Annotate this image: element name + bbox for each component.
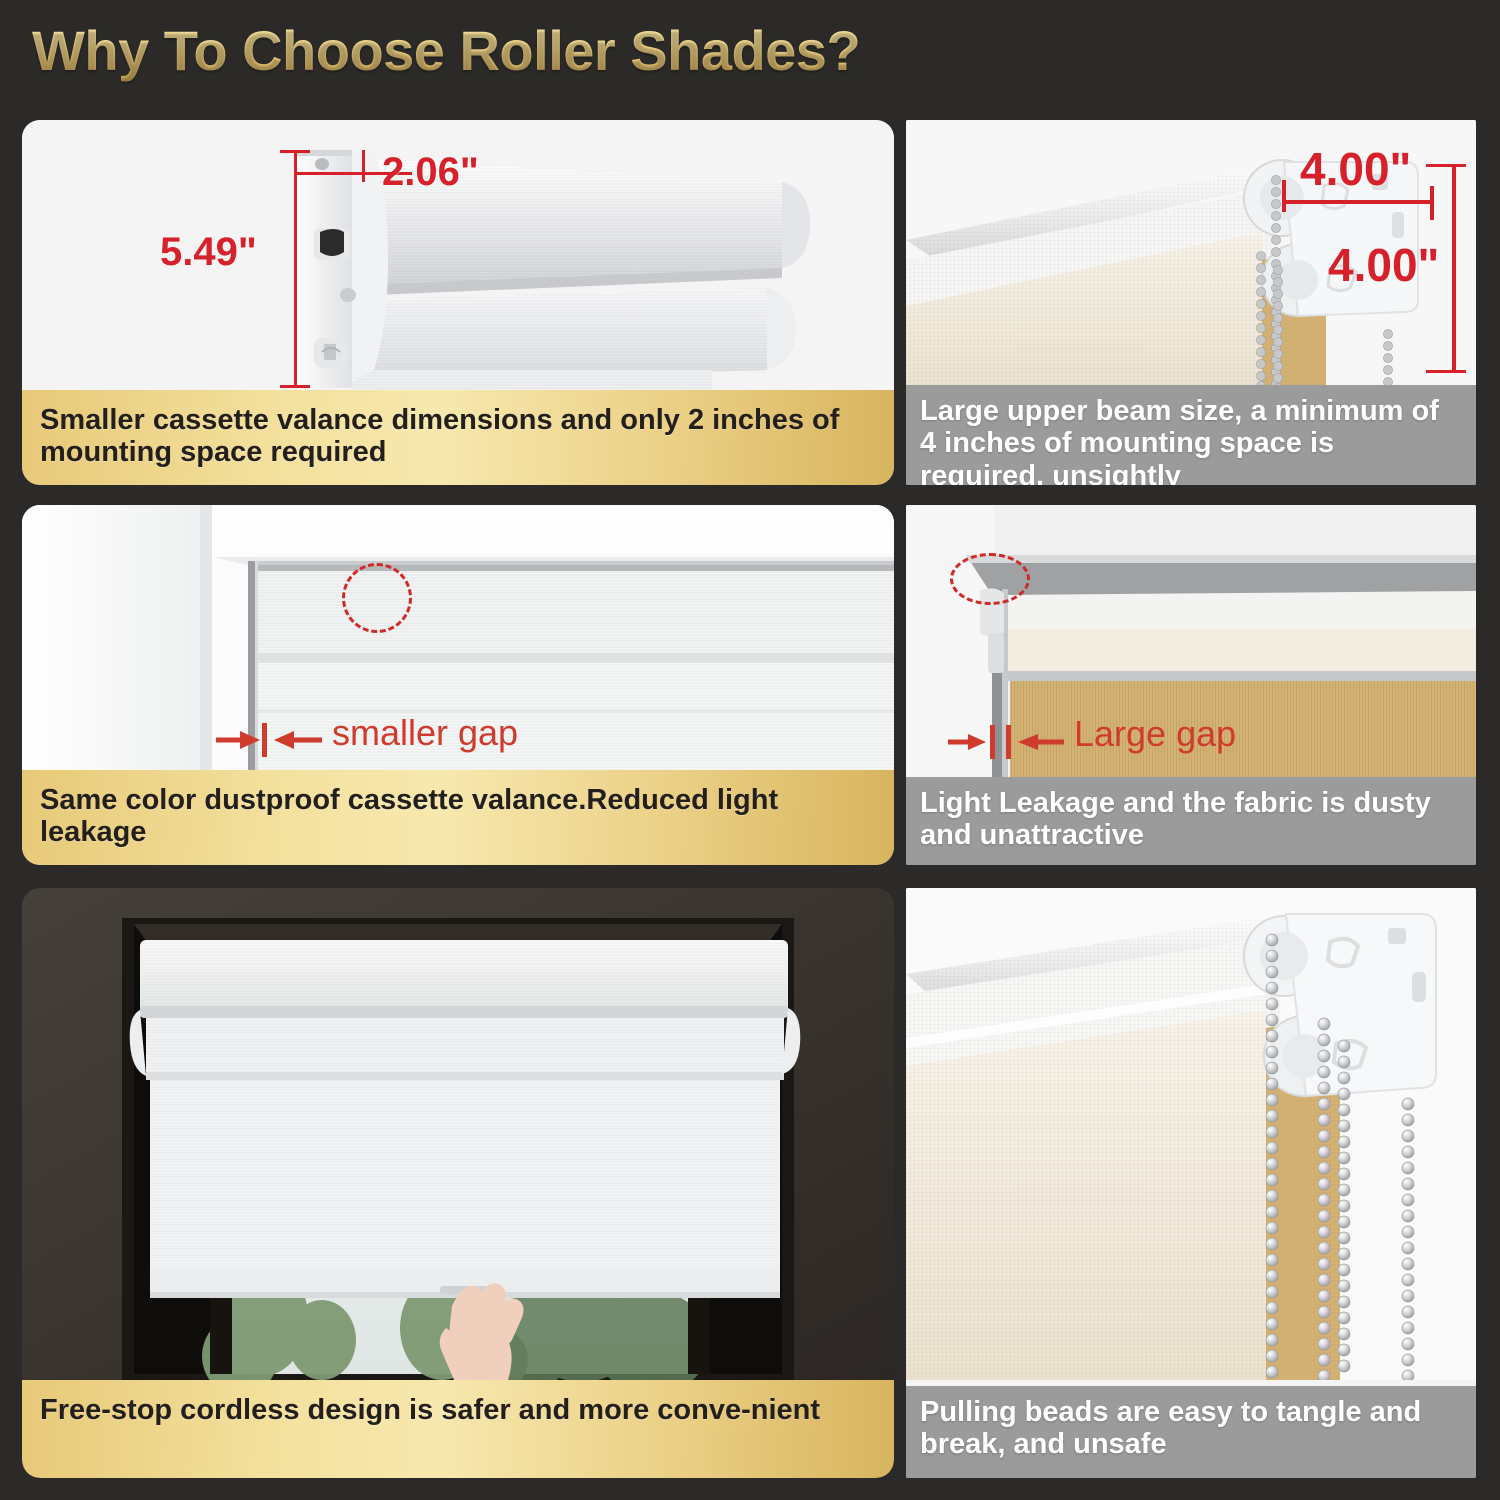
caption-text: Smaller cassette valance dimensions and … [40, 404, 876, 469]
cassette-photo: 2.06" 5.49" [22, 120, 894, 390]
height-dimension-tick-top [280, 150, 310, 153]
large-gap-label: Large gap [1074, 713, 1236, 755]
detail-highlight-circle [950, 553, 1030, 605]
caption-light-leakage: Light Leakage and the fabric is dusty an… [906, 777, 1476, 865]
caption-cassette-dimensions: Smaller cassette valance dimensions and … [22, 390, 894, 485]
beam-height-label: 4.00" [1328, 238, 1439, 292]
large-gap-photo: Large gap [906, 505, 1476, 777]
smaller-gap-label: smaller gap [332, 712, 518, 754]
infographic-page: Why To Choose Roller Shades? [0, 0, 1500, 1500]
height-dimension-line [294, 150, 297, 388]
panel-cassette-dimensions: 2.06" 5.49" Smaller cassette valance dim… [22, 120, 894, 485]
window-scene-illustration [22, 888, 894, 1380]
cordless-window-photo [22, 888, 894, 1380]
height-dimension-tick-bottom [280, 385, 310, 388]
caption-text: Pulling beads are easy to tangle and bre… [920, 1396, 1462, 1461]
caption-large-upper-beam: Large upper beam size, a minimum of 4 in… [906, 385, 1476, 485]
beam-width-dimension-line [1284, 200, 1434, 204]
upper-beam-photo: 4.00" 4.00" [906, 120, 1476, 388]
caption-text: Same color dustproof cassette valance.Re… [40, 784, 876, 849]
beaded-roller-illustration [906, 888, 1476, 1380]
panel-large-upper-beam: 4.00" 4.00" Large upper beam size, a min… [906, 120, 1476, 485]
detail-highlight-circle [342, 563, 412, 633]
pulling-beads-photo [906, 888, 1476, 1380]
beam-width-tick-right [1430, 186, 1434, 220]
panel-light-leakage: Large gap Light Leakage and the fabric i… [906, 505, 1476, 865]
page-title: Why To Choose Roller Shades? [32, 18, 860, 83]
caption-text: Free-stop cordless design is safer and m… [40, 1394, 876, 1426]
panel-dustproof-cassette-valance: smaller gap Same color dustproof cassett… [22, 505, 894, 865]
caption-cordless-design: Free-stop cordless design is safer and m… [22, 1380, 894, 1478]
height-dimension-label: 5.49" [160, 230, 257, 275]
panel-cordless-design: Free-stop cordless design is safer and m… [22, 888, 894, 1478]
panel-pulling-beads: Pulling beads are easy to tangle and bre… [906, 888, 1476, 1478]
beam-height-tick-bottom [1426, 370, 1466, 373]
beam-height-tick-top [1426, 164, 1466, 167]
width-dimension-tick-right [362, 150, 365, 182]
caption-text: Light Leakage and the fabric is dusty an… [920, 787, 1462, 852]
beam-height-dimension-line [1452, 164, 1456, 372]
beam-width-label: 4.00" [1300, 142, 1411, 196]
smaller-gap-photo: smaller gap [22, 505, 894, 770]
caption-text: Large upper beam size, a minimum of 4 in… [920, 395, 1462, 485]
caption-pulling-beads: Pulling beads are easy to tangle and bre… [906, 1386, 1476, 1478]
beam-width-tick-left [1282, 180, 1286, 212]
caption-dustproof-cassette-valance: Same color dustproof cassette valance.Re… [22, 770, 894, 865]
width-dimension-label: 2.06" [382, 150, 479, 195]
